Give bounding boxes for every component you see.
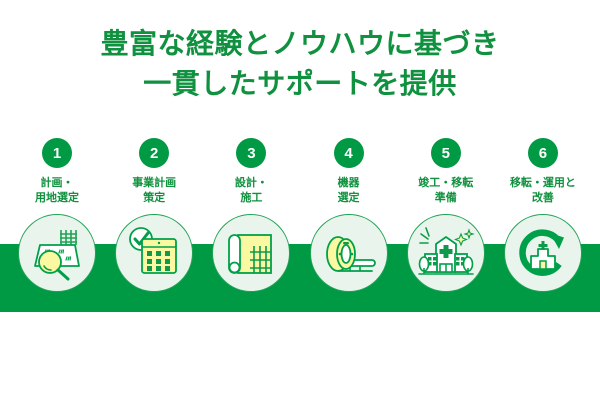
step-item-1[interactable]: 1 計画・ 用地選定 bbox=[12, 138, 102, 358]
step-icon-circle-2 bbox=[115, 214, 193, 292]
step-number-badge-4: 4 bbox=[334, 138, 364, 168]
step-item-5[interactable]: 5 竣工・移転 準備 bbox=[401, 138, 491, 358]
step-icon-circle-6 bbox=[504, 214, 582, 292]
step-number-badge-5: 5 bbox=[431, 138, 461, 168]
mri-scanner-icon bbox=[320, 224, 378, 282]
blueprint-roll-icon bbox=[222, 224, 280, 282]
step-icon-circle-5 bbox=[407, 214, 485, 292]
step-item-6[interactable]: 6 移転・運用と 改善 bbox=[498, 138, 588, 358]
step-label-6: 移転・運用と 改善 bbox=[510, 176, 576, 206]
step-icon-circle-3 bbox=[212, 214, 290, 292]
step-number-badge-1: 1 bbox=[42, 138, 72, 168]
step-list: 1 計画・ 用地選定 bbox=[0, 138, 600, 358]
step-label-5: 竣工・移転 準備 bbox=[418, 176, 473, 206]
page-title: 豊富な経験とノウハウに基づき 一貫したサポートを提供 bbox=[0, 24, 600, 104]
step-label-3: 設計・ 施工 bbox=[235, 176, 268, 206]
step-icon-circle-4 bbox=[310, 214, 388, 292]
step-number-badge-6: 6 bbox=[528, 138, 558, 168]
step-number-badge-2: 2 bbox=[139, 138, 169, 168]
hospital-cycle-arrow-icon bbox=[514, 224, 572, 282]
step-number-badge-3: 3 bbox=[236, 138, 266, 168]
step-label-1: 計画・ 用地選定 bbox=[35, 176, 79, 206]
infographic-canvas: 豊富な経験とノウハウに基づき 一貫したサポートを提供 1 計画・ 用地選定 bbox=[0, 0, 600, 400]
step-item-3[interactable]: 3 設計・ 施工 bbox=[206, 138, 296, 358]
step-label-4: 機器 選定 bbox=[338, 176, 360, 206]
calendar-check-icon bbox=[125, 224, 183, 282]
step-item-2[interactable]: 2 事業計画 策定 bbox=[109, 138, 199, 358]
step-item-4[interactable]: 4 機器 選定 bbox=[304, 138, 394, 358]
hospital-building-sparkle-icon bbox=[417, 224, 475, 282]
step-label-2: 事業計画 策定 bbox=[132, 176, 176, 206]
land-survey-magnifier-icon bbox=[28, 224, 86, 282]
step-icon-circle-1 bbox=[18, 214, 96, 292]
